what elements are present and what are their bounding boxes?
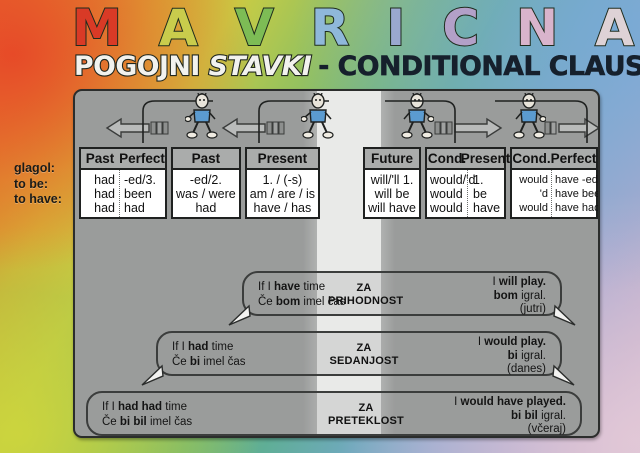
cells-cond-perfect-main: have -ed /3. have been have had: [551, 170, 596, 217]
conditional-first-label: ZA PRIHODNOST: [328, 282, 400, 308]
cells-cond-present-aux: would/'d would would: [427, 170, 467, 217]
tense-column-cond-perfect: Cond. Perfect would 'd would have -ed /3…: [510, 147, 598, 219]
cells-cond-perfect-aux: would 'd would: [512, 170, 551, 217]
cells-past-perfect-aux: had had had: [81, 170, 119, 217]
body-future: will/'ll 1. will be will have: [365, 170, 419, 217]
title-letter-n: N: [516, 3, 558, 53]
cells-past: -ed/2. was / were had: [173, 170, 239, 217]
title-letter-a1: A: [159, 3, 198, 53]
conditional-third-result: I would have played. bi bil igral. (včer…: [454, 396, 566, 437]
cells-future: will/'ll 1. will be will have: [365, 170, 419, 217]
header-past-perfect-2: Perfect: [119, 149, 165, 168]
header-cond-present-2: Present: [467, 149, 504, 168]
timeline-panel: Past Perfect had had had -ed/3. been had: [73, 89, 600, 438]
tense-column-cond-present: Cond. Present would/'d would would 1. be…: [425, 147, 506, 219]
conditional-row-second: If I had time Če bi imel čas ZA SEDANJOS…: [156, 331, 562, 376]
body-cond-present: would/'d would would 1. be have: [427, 170, 504, 217]
row-labels: glagol: to be: to have:: [14, 161, 62, 208]
pointer-second-right: [549, 363, 575, 387]
figure-past-perfect: [185, 93, 219, 141]
path-line-conditional: [495, 91, 595, 149]
pointer-second-left: [141, 363, 167, 387]
body-cond-perfect: would 'd would have -ed /3. have been ha…: [512, 170, 596, 217]
subtitle-slovene-main: POGOJNI: [74, 51, 209, 82]
subtitle-slovene-italic: STAVKI: [209, 51, 312, 82]
tense-table: Past Perfect had had had -ed/3. been had: [79, 147, 598, 219]
conditional-row-first: If I have time Če bom imel čas ZA PRIHOD…: [242, 271, 562, 316]
subtitle-slovene: POGOJNI STAVKI: [74, 53, 311, 81]
figures-strip: [75, 91, 600, 149]
conditional-first-result: I will play. bom igral. (jutri): [493, 276, 546, 317]
header-cond-perfect-1: Cond.: [512, 149, 551, 168]
row-label-verb: glagol:: [14, 161, 62, 177]
conditional-third-label: ZA PRETEKLOST: [328, 402, 404, 428]
tense-column-past-perfect: Past Perfect had had had -ed/3. been had: [79, 147, 167, 219]
subtitle-english: - CONDITIONAL CLAUSES: [318, 53, 640, 81]
row-label-to-have: to have:: [14, 192, 62, 208]
body-past-perfect: had had had -ed/3. been had: [81, 170, 165, 217]
header-future: Future: [365, 149, 419, 170]
header-past-perfect-1: Past: [81, 149, 119, 168]
title-letter-m: M: [72, 3, 122, 53]
header-present: Present: [247, 149, 318, 170]
header-past: Past: [173, 149, 239, 170]
title-letter-v: V: [235, 3, 274, 53]
cells-present: 1. / (-s) am / are / is have / has: [247, 170, 318, 217]
pointer-first-left: [228, 303, 254, 327]
tense-column-present: Present 1. / (-s) am / are / is have / h…: [245, 147, 320, 219]
title-letter-a2: A: [595, 3, 634, 53]
conditional-second-if: If I had time Če bi imel čas: [172, 340, 246, 369]
caron-diacritic: ˇ: [450, 0, 467, 22]
tense-column-gap: [324, 147, 359, 219]
tense-column-future: Future will/'ll 1. will be will have: [363, 147, 421, 219]
cells-past-perfect-main: -ed/3. been had: [119, 170, 165, 217]
conditional-second-label: ZA SEDANJOST: [328, 342, 400, 368]
path-line-future: [385, 91, 463, 149]
header-cond-perfect: Cond. Perfect: [512, 149, 596, 170]
title-letter-i: I: [387, 3, 406, 53]
conditional-row-third: If I had had time Če bi bil imel čas ZA …: [86, 391, 582, 436]
title-letter-r: R: [311, 3, 350, 53]
header-cond-perfect-2: Perfect: [551, 149, 596, 168]
figure-past: [301, 93, 335, 141]
conditional-third-if: If I had had time Če bi bil imel čas: [102, 400, 192, 429]
poster-subtitle: POGOJNI STAVKI - CONDITIONAL CLAUSES: [74, 52, 626, 82]
title-letter-c-caron: Cˇ: [442, 3, 479, 53]
row-label-to-be: to be:: [14, 177, 62, 193]
conditional-second-result: I would play. bi igral. (danes): [478, 336, 546, 377]
cells-cond-present-main: 1. be have: [467, 170, 504, 217]
pointer-first-right: [550, 303, 576, 327]
body-past: -ed/2. was / were had: [173, 170, 239, 217]
poster-background: M A V R I Cˇ N A POGOJNI STAVKI - CONDIT…: [0, 0, 640, 453]
tense-column-past: Past -ed/2. was / were had: [171, 147, 241, 219]
poster-title: M A V R I Cˇ N A: [72, 2, 634, 54]
header-cond-present: Cond. Present: [427, 149, 504, 170]
body-present: 1. / (-s) am / are / is have / has: [247, 170, 318, 217]
header-past-perfect: Past Perfect: [81, 149, 165, 170]
